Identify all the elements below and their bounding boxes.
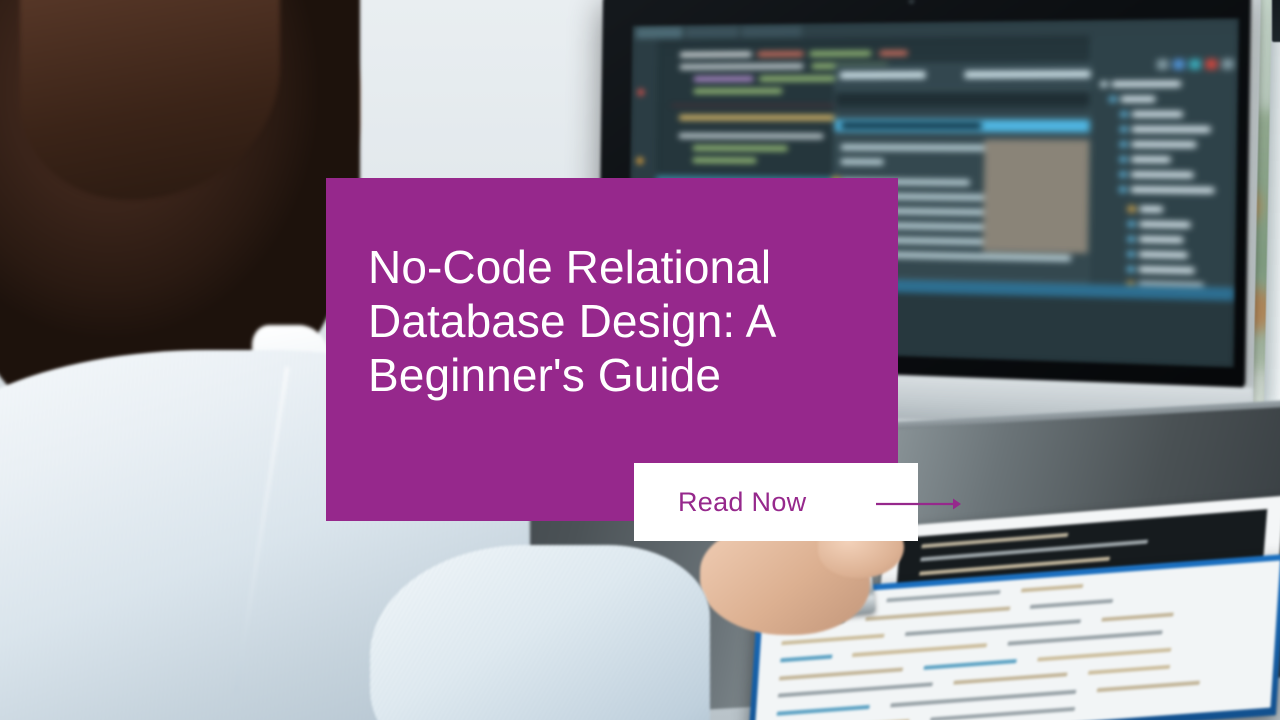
read-now-label: Read Now <box>678 487 806 518</box>
settings-icon <box>1222 58 1234 69</box>
error-marker-icon <box>637 89 644 96</box>
ide-tab <box>741 26 801 38</box>
ide-panel-toolbar <box>1095 56 1234 71</box>
ide-tab <box>685 26 738 38</box>
arrow-right-icon[interactable] <box>875 494 961 514</box>
warning-marker-icon <box>636 157 643 164</box>
screenshot-canvas: No-Code Relational Database Design: A Be… <box>0 0 1280 720</box>
sync-icon <box>1189 58 1201 69</box>
page-title: No-Code Relational Database Design: A Be… <box>368 240 868 402</box>
filter-icon <box>1173 58 1185 69</box>
ide-tab <box>636 27 682 39</box>
refresh-icon <box>1157 59 1169 70</box>
stop-icon <box>1205 58 1217 69</box>
